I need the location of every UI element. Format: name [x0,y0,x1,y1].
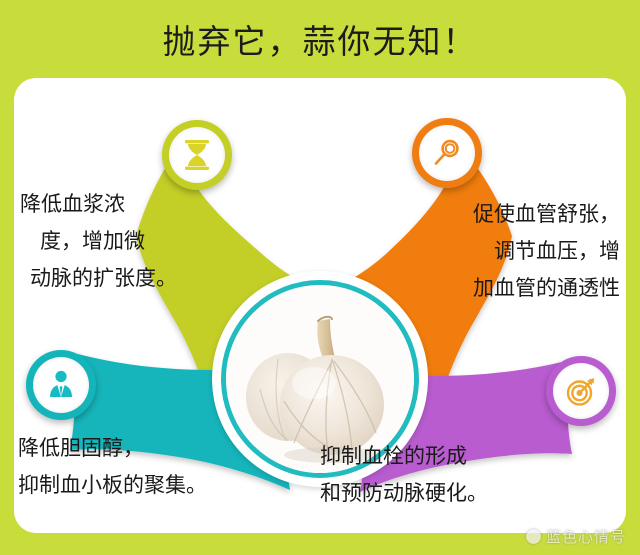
note-top-right-line-1: 促使血管舒张， [312,196,620,233]
note-bottom-left-line-1: 降低胆固醇， [18,430,207,467]
note-top-left-line-1: 降低血浆浓 [20,186,177,223]
node-top-left-inner [169,127,225,183]
target-icon [564,374,598,408]
poster-root: 抛弃它，蒜你无知！ [0,0,640,555]
note-bottom-left: 降低胆固醇， 抑制血小板的聚集。 [18,430,207,504]
person-icon [45,369,77,401]
note-top-right-line-2: 调节血压，增 [312,233,620,270]
node-bottom-right-inner [553,363,609,419]
watermark: 蓝色心情号 [526,526,626,547]
node-bottom-right[interactable] [546,356,616,426]
note-bottom-right: 抑制血栓的形成 和预防动脉硬化。 [310,438,620,512]
note-top-left-line-2: 度，增加微 [20,223,177,260]
node-top-right-inner [419,125,475,181]
page-title: 抛弃它，蒜你无知！ [163,15,478,63]
note-bottom-right-line-1: 抑制血栓的形成 [310,438,620,475]
hourglass-icon [182,139,212,171]
watermark-badge-icon [526,529,541,544]
note-top-left: 降低血浆浓 度，增加微 动脉的扩张度。 [20,186,177,297]
title-band: 抛弃它，蒜你无知！ [0,0,640,78]
node-top-right[interactable] [412,118,482,188]
note-bottom-right-line-2: 和预防动脉硬化。 [310,475,620,512]
magnifier-icon [431,137,463,169]
node-top-left[interactable] [162,120,232,190]
node-bottom-left-inner [33,357,89,413]
note-bottom-left-line-2: 抑制血小板的聚集。 [18,467,207,504]
watermark-text: 蓝色心情号 [546,526,626,547]
node-bottom-left[interactable] [26,350,96,420]
content-card: 降低血浆浓 度，增加微 动脉的扩张度。 促使血管舒张， 调节血压，增 加血管的通… [14,78,626,533]
note-top-right: 促使血管舒张， 调节血压，增 加血管的通透性 [312,196,620,307]
note-top-left-line-3: 动脉的扩张度。 [20,260,177,297]
note-top-right-line-3: 加血管的通透性 [312,270,620,307]
